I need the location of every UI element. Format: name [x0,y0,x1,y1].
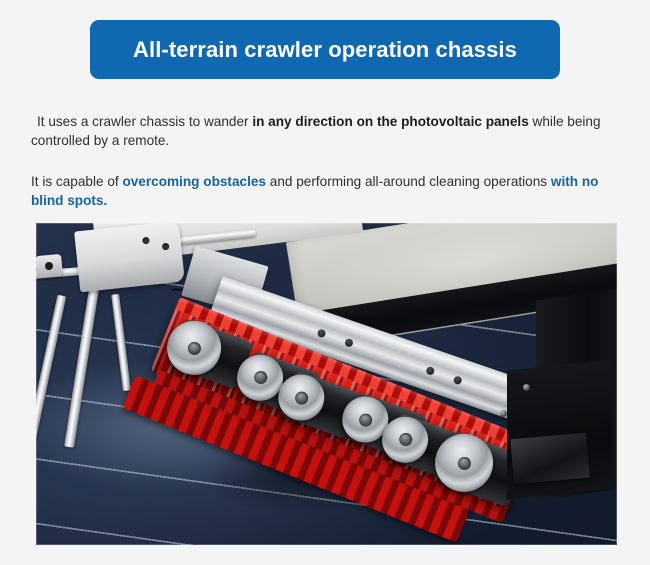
paragraph-1-bold-phrase: in any direction on the photovoltaic pan… [252,114,528,129]
paragraph-1: It uses a crawler chassis to wander in a… [31,112,631,150]
beam-bolt-icon [317,328,327,338]
roller-end-cap [36,254,63,278]
beam-bolt-icon [344,338,354,348]
paragraph-2-text-part1: It is capable of [31,174,122,189]
chassis-bolt-icon [523,384,530,391]
paragraph-2-highlight-overcoming-obstacles: overcoming obstacles [122,174,266,189]
product-photo-scene [36,223,617,545]
paragraph-1-text-part1: It uses a crawler chassis to wander [31,114,252,129]
chassis-mounting-bracket [511,432,590,483]
page-title: All-terrain crawler operation chassis [133,39,517,61]
product-photo [36,223,617,545]
paragraph-2-text-part2: and performing all-around cleaning opera… [266,174,551,189]
description-block: It uses a crawler chassis to wander in a… [31,112,631,210]
chassis-bolt-icon [500,410,507,417]
beam-bolt-icon [453,375,463,385]
paragraph-2: It is capable of overcoming obstacles an… [31,172,631,210]
header-banner-container: All-terrain crawler operation chassis [0,20,650,79]
gantry-head-bracket [74,223,184,293]
bolt-hole-icon [142,238,150,246]
header-banner: All-terrain crawler operation chassis [90,20,560,79]
bolt-hole-icon [161,243,169,251]
beam-bolt-icon [425,366,435,376]
